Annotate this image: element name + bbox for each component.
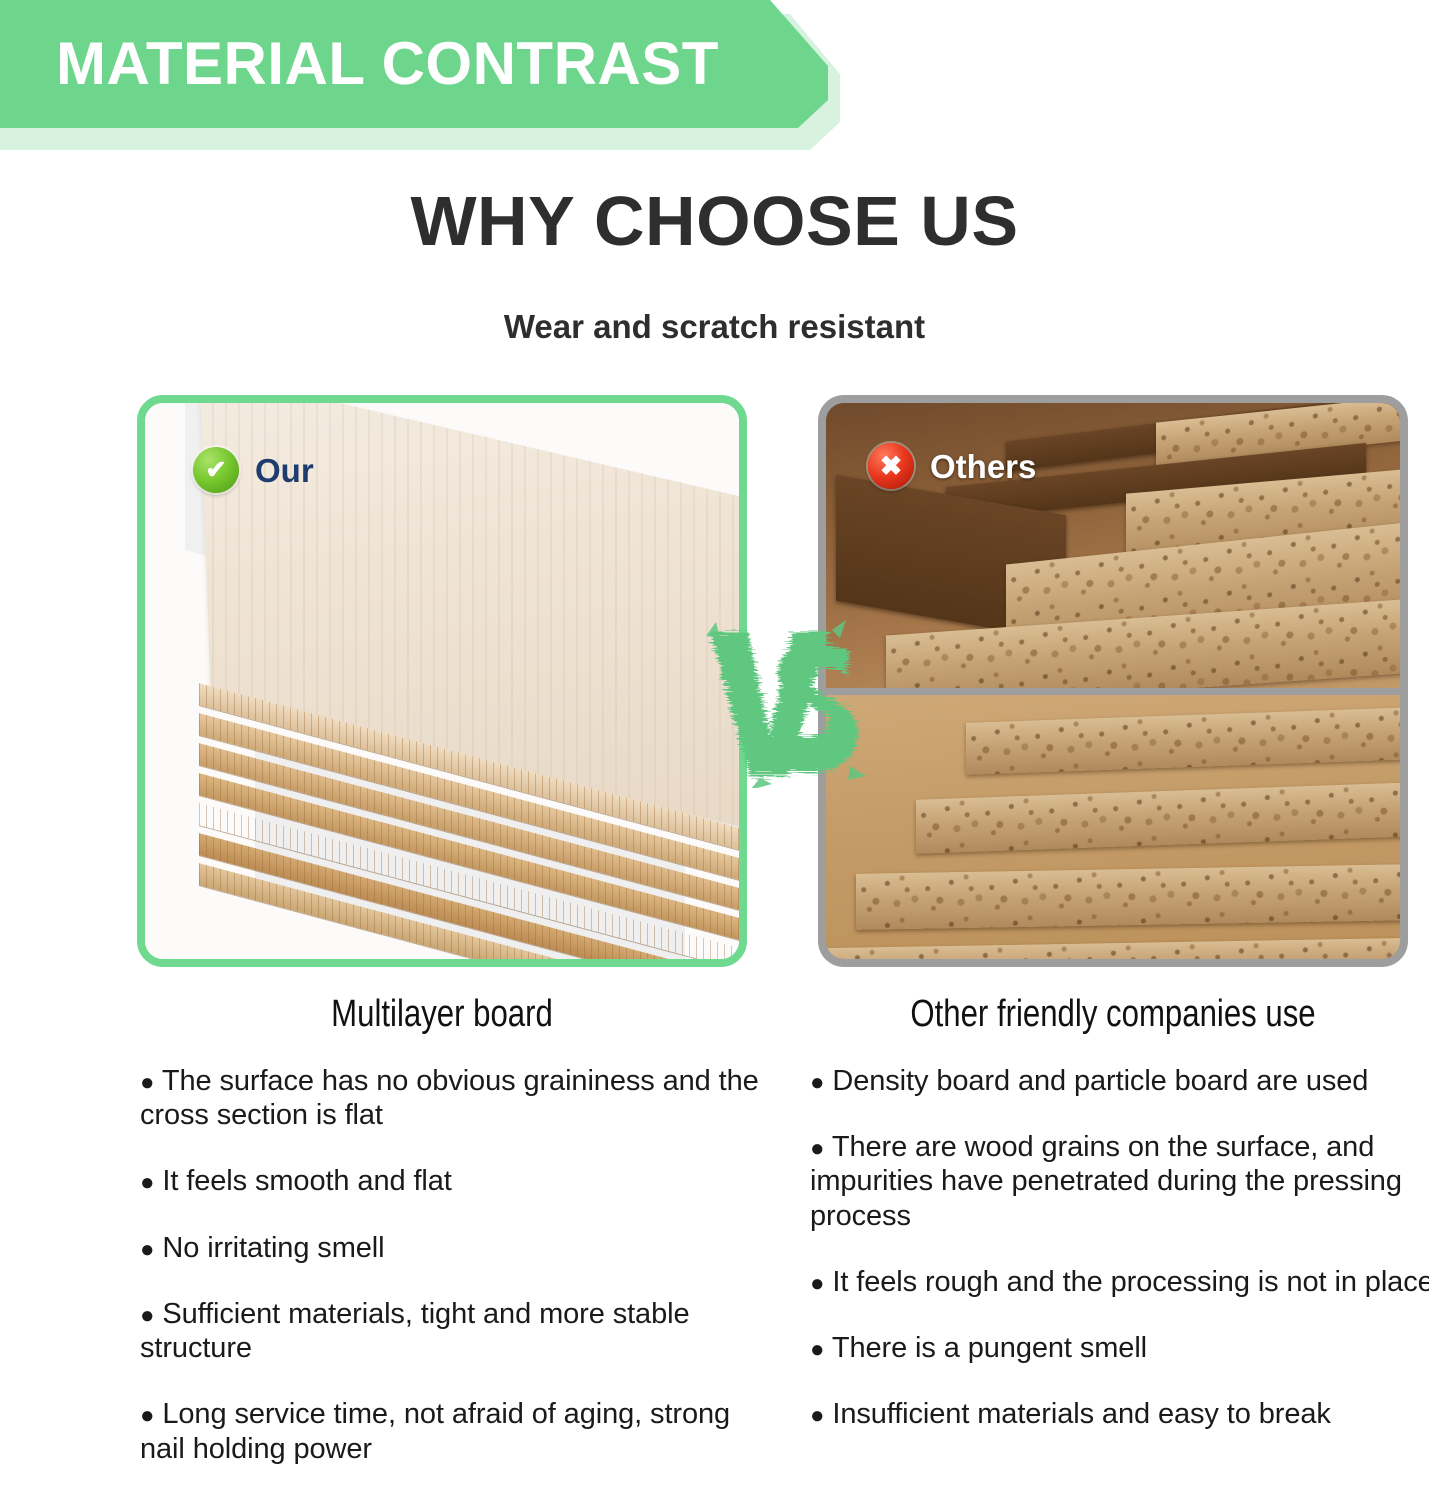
list-item: ● The surface has no obvious graininess … (140, 1064, 780, 1132)
others-product-image: ✖ Others (826, 403, 1400, 959)
list-item: ● Insufficient materials and easy to bre… (810, 1397, 1429, 1431)
list-item: ● Long service time, not afraid of aging… (140, 1397, 780, 1465)
list-item-text: Long service time, not afraid of aging, … (140, 1398, 730, 1464)
check-glyph: ✔ (206, 458, 227, 483)
list-item-text: It feels rough and the processing is not… (832, 1266, 1429, 1298)
page-title: WHY CHOOSE US (0, 185, 1429, 259)
list-item-text: The surface has no obvious graininess an… (140, 1065, 759, 1131)
our-badge: ✔ Our (193, 447, 314, 493)
list-item-text: Sufficient materials, tight and more sta… (140, 1298, 689, 1364)
comparison-panel-our: ✔ Our (137, 395, 747, 967)
list-item: ● It feels rough and the processing is n… (810, 1265, 1429, 1299)
page-subtitle: Wear and scratch resistant (0, 306, 1429, 349)
list-item: ● Sufficient materials, tight and more s… (140, 1297, 780, 1365)
particle-slab (856, 864, 1400, 930)
list-item-text: It feels smooth and flat (162, 1165, 451, 1197)
list-item-text: There are wood grains on the surface, an… (810, 1131, 1402, 1231)
caption-our: Multilayer board (192, 993, 692, 1037)
list-item-text: There is a pungent smell (832, 1332, 1147, 1364)
caption-others: Other friendly companies use (871, 993, 1355, 1037)
list-item-text: No irritating smell (162, 1232, 384, 1264)
list-item: ● There is a pungent smell (810, 1331, 1429, 1365)
list-item: ● It feels smooth and flat (140, 1164, 780, 1198)
x-circle-icon: ✖ (868, 443, 914, 489)
banner-main-layer: MATERIAL CONTRAST (0, 0, 828, 128)
infographic-page: MATERIAL CONTRAST WHY CHOOSE US Wear and… (0, 0, 1429, 1500)
our-product-image: ✔ Our (145, 403, 739, 959)
our-badge-label: Our (255, 454, 314, 487)
banner-title: MATERIAL CONTRAST (0, 34, 719, 94)
feature-list-our: ● The surface has no obvious graininess … (140, 1064, 780, 1498)
comparison-panel-others: ✖ Others (818, 395, 1408, 967)
image-divider (826, 688, 1400, 695)
header-banner: MATERIAL CONTRAST (0, 0, 900, 160)
others-badge: ✖ Others (868, 443, 1036, 489)
check-circle-icon: ✔ (193, 447, 239, 493)
list-item-text: Density board and particle board are use… (832, 1065, 1368, 1097)
list-item: ● There are wood grains on the surface, … (810, 1130, 1429, 1233)
list-item: ● No irritating smell (140, 1231, 780, 1265)
list-item: ● Density board and particle board are u… (810, 1064, 1429, 1098)
feature-list-others: ● Density board and particle board are u… (810, 1064, 1429, 1464)
list-item-text: Insufficient materials and easy to break (832, 1398, 1330, 1430)
x-glyph: ✖ (880, 453, 903, 480)
others-badge-label: Others (930, 450, 1036, 483)
